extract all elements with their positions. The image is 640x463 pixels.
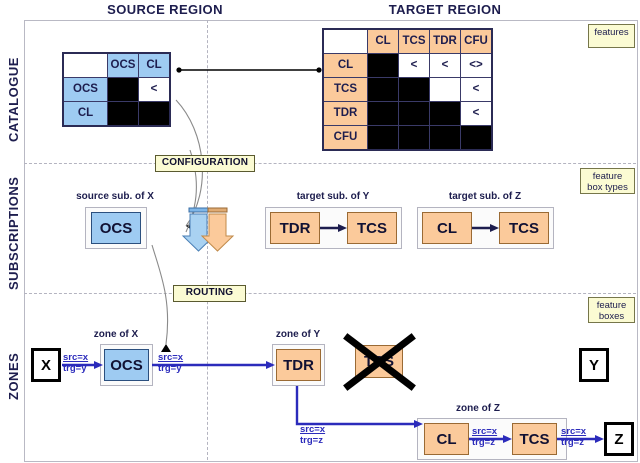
- edge-label-src: src=x: [561, 426, 586, 437]
- column-header: OCS: [108, 53, 139, 78]
- configuration-transfer-arrows: [186, 206, 242, 258]
- row-header: OCS: [63, 78, 108, 102]
- row-header: CFU: [323, 126, 368, 151]
- caption-zone-z: zone of Z: [438, 403, 518, 414]
- edge-label-trg: trg=y: [63, 363, 87, 374]
- note-feature-boxes-line2: boxes: [599, 311, 624, 322]
- matrix-cell: <: [399, 54, 430, 78]
- feature-box-ocs-source-sub[interactable]: OCS: [91, 212, 141, 244]
- feature-box-tcs-target-sub-y[interactable]: TCS: [347, 212, 397, 244]
- caption-target-sub-y: target sub. of Y: [278, 191, 388, 202]
- cross-out-icon: [345, 335, 414, 389]
- edge-label-src: src=x: [300, 424, 325, 435]
- caption-zone-x: zone of X: [76, 329, 156, 340]
- matrix-cell: [461, 126, 493, 151]
- row-header: TCS: [323, 78, 368, 102]
- matrix-cell: <>: [461, 54, 493, 78]
- matrix-cell: [368, 126, 399, 151]
- row-header: CL: [63, 102, 108, 127]
- matrix-cell: [108, 102, 139, 127]
- feature-box-tcs-target-sub-z[interactable]: TCS: [499, 212, 549, 244]
- feature-box-cl-zone-z[interactable]: CL: [424, 423, 469, 455]
- edge-label-src: src=x: [158, 352, 183, 363]
- band-label-subscriptions: SUBSCRIPTIONS: [6, 177, 21, 290]
- arrow-tdr-to-tcs-y: [320, 222, 348, 236]
- band-separator-2: [24, 293, 636, 294]
- feature-box-ocs-zone-x[interactable]: OCS: [104, 349, 149, 381]
- feature-box-tcs-zone-z[interactable]: TCS: [512, 423, 557, 455]
- edge-label-trg: trg=z: [561, 437, 584, 448]
- column-header: CL: [139, 53, 171, 78]
- diagram-canvas: SOURCE REGION TARGET REGION CATALOGUE SU…: [0, 0, 640, 463]
- caption-source-sub-x: source sub. of X: [60, 191, 170, 202]
- table-row: CL: [63, 102, 170, 127]
- matrix-cell: <: [430, 54, 461, 78]
- tag-routing[interactable]: ROUTING: [173, 285, 246, 302]
- edge-label-src: src=x: [472, 426, 497, 437]
- table-row: CL TCS TDR CFU: [323, 29, 492, 54]
- endpoint-box-y[interactable]: Y: [579, 348, 609, 382]
- matrix-cell: <: [139, 78, 171, 102]
- note-feature-boxes-line1: feature: [597, 300, 627, 311]
- note-features-text: features: [594, 27, 628, 38]
- table-row: CL < < <>: [323, 54, 492, 78]
- arrow-cl-to-tcs-z: [472, 222, 500, 236]
- target-region-title: TARGET REGION: [330, 2, 560, 17]
- table-row: OCS <: [63, 78, 170, 102]
- matrix-corner: [63, 53, 108, 78]
- note-feature-boxes: feature boxes: [588, 297, 635, 323]
- edge-label-src: src=x: [63, 352, 88, 363]
- endpoint-box-z[interactable]: Z: [604, 422, 634, 456]
- target-catalogue-matrix: CL TCS TDR CFU CL < < <> TCS < TDR < CF: [322, 28, 493, 151]
- column-header: TDR: [430, 29, 461, 54]
- matrix-cell: [139, 102, 171, 127]
- matrix-cell: [430, 126, 461, 151]
- matrix-cell: [399, 126, 430, 151]
- row-header: CL: [323, 54, 368, 78]
- table-row: TCS <: [323, 78, 492, 102]
- matrix-corner: [323, 29, 368, 54]
- feature-box-cl-target-sub-z[interactable]: CL: [422, 212, 472, 244]
- matrix-cell: [368, 102, 399, 126]
- band-label-zones: ZONES: [6, 353, 21, 400]
- table-row: CFU: [323, 126, 492, 151]
- feature-box-tdr-zone-y[interactable]: TDR: [276, 349, 321, 381]
- note-feature-box-types: feature box types: [580, 168, 635, 194]
- matrix-cell: [399, 78, 430, 102]
- edge-label-ocs-to-tdr: src=x trg=y: [158, 352, 183, 374]
- edge-label-cl-to-tcs: src=x trg=z: [472, 426, 497, 448]
- edge-label-tcs-to-z: src=x trg=z: [561, 426, 586, 448]
- caption-target-sub-z: target sub. of Z: [430, 191, 540, 202]
- band-label-catalogue: CATALOGUE: [6, 57, 21, 142]
- column-header: CL: [368, 29, 399, 54]
- matrix-cell: [368, 78, 399, 102]
- note-feature-box-types-line1: feature: [593, 171, 623, 182]
- feature-box-tdr-target-sub-y[interactable]: TDR: [270, 212, 320, 244]
- column-header: CFU: [461, 29, 493, 54]
- edge-label-trg: trg=y: [158, 363, 182, 374]
- edge-label-trg: trg=z: [472, 437, 495, 448]
- matrix-cell: [108, 78, 139, 102]
- matrix-cell: <: [461, 78, 493, 102]
- note-feature-box-types-line2: box types: [587, 182, 628, 193]
- matrix-cell: [368, 54, 399, 78]
- endpoint-box-x[interactable]: X: [31, 348, 61, 382]
- row-header: TDR: [323, 102, 368, 126]
- table-row: OCS CL: [63, 53, 170, 78]
- table-row: TDR <: [323, 102, 492, 126]
- edge-label-x-to-ocs: src=x trg=y: [63, 352, 88, 374]
- tag-configuration[interactable]: CONFIGURATION: [155, 155, 255, 172]
- edge-label-tdr-to-cl: src=x trg=z: [300, 424, 325, 446]
- source-catalogue-matrix: OCS CL OCS < CL: [62, 52, 171, 127]
- band-separator-1: [24, 163, 636, 164]
- column-header: TCS: [399, 29, 430, 54]
- matrix-cell: <: [461, 102, 493, 126]
- note-features: features: [588, 24, 635, 48]
- source-region-title: SOURCE REGION: [50, 2, 280, 17]
- matrix-cell: [430, 102, 461, 126]
- matrix-cell: [399, 102, 430, 126]
- edge-label-trg: trg=z: [300, 435, 323, 446]
- matrix-cell: [430, 78, 461, 102]
- caption-zone-y: zone of Y: [258, 329, 338, 340]
